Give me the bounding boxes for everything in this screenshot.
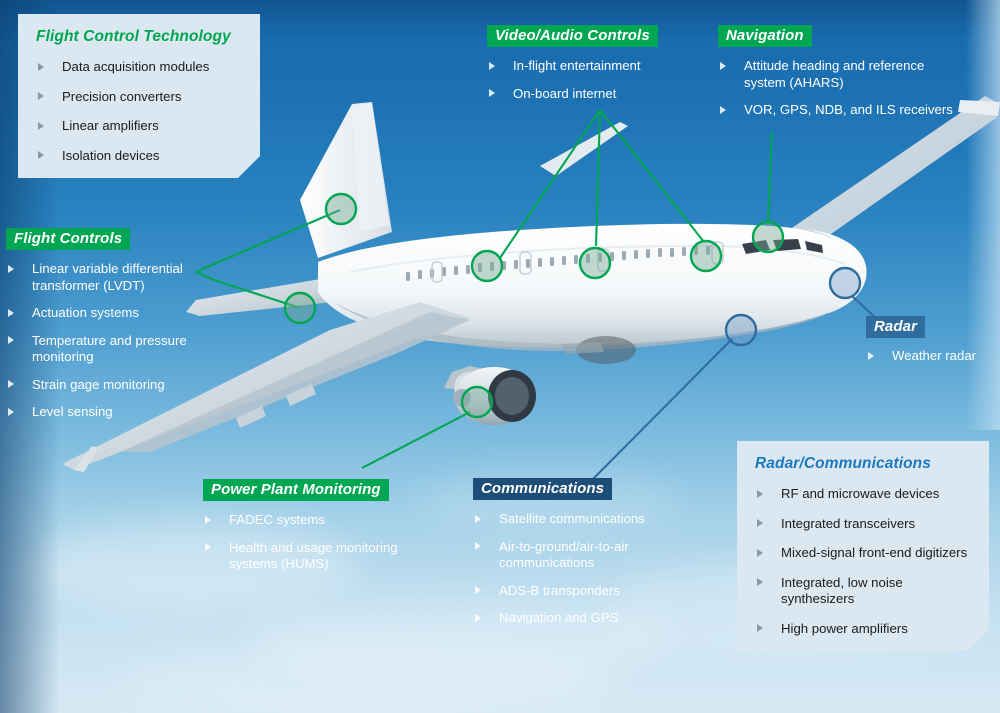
triangle-bullet-icon bbox=[868, 352, 874, 360]
triangle-bullet-icon bbox=[757, 490, 763, 498]
section-flight-controls: Flight Controls Linear variable differen… bbox=[6, 228, 216, 421]
triangle-bullet-icon bbox=[757, 578, 763, 586]
list-radar-communications: RF and microwave devices Integrated tran… bbox=[755, 486, 973, 637]
triangle-bullet-icon bbox=[8, 265, 14, 273]
list-radar: Weather radar bbox=[866, 348, 996, 365]
list-item-label: Actuation systems bbox=[32, 305, 139, 320]
triangle-bullet-icon bbox=[475, 586, 481, 594]
list-item-label: RF and microwave devices bbox=[781, 486, 939, 501]
list-item-label: FADEC systems bbox=[229, 512, 325, 527]
list-item: Actuation systems bbox=[6, 305, 216, 322]
triangle-bullet-icon bbox=[475, 614, 481, 622]
panel-flight-control-technology: Flight Control Technology Data acquisiti… bbox=[18, 14, 260, 178]
list-item: Integrated transceivers bbox=[755, 516, 973, 533]
list-item-label: Precision converters bbox=[62, 89, 181, 104]
list-item-label: Isolation devices bbox=[62, 148, 160, 163]
triangle-bullet-icon bbox=[8, 309, 14, 317]
list-item: Linear amplifiers bbox=[36, 118, 244, 135]
list-item-label: Strain gage monitoring bbox=[32, 377, 165, 392]
list-flight-control-technology: Data acquisition modules Precision conve… bbox=[36, 59, 244, 164]
list-item: Mixed-signal front-end digitizers bbox=[755, 545, 973, 562]
list-navigation: Attitude heading and reference system (A… bbox=[718, 58, 953, 119]
triangle-bullet-icon bbox=[757, 519, 763, 527]
triangle-bullet-icon bbox=[38, 151, 44, 159]
list-item: Strain gage monitoring bbox=[6, 377, 216, 394]
list-item: Satellite communications bbox=[473, 511, 678, 528]
list-item: RF and microwave devices bbox=[755, 486, 973, 503]
triangle-bullet-icon bbox=[720, 106, 726, 114]
section-communications: Communications Satellite communications … bbox=[473, 478, 678, 627]
triangle-bullet-icon bbox=[757, 549, 763, 557]
list-power-plant-monitoring: FADEC systems Health and usage monitorin… bbox=[203, 512, 418, 573]
list-item-label: Temperature and pressure monitoring bbox=[32, 333, 187, 365]
section-title-navigation: Navigation bbox=[718, 25, 812, 47]
section-title-flight-controls: Flight Controls bbox=[6, 228, 130, 250]
list-item: Precision converters bbox=[36, 89, 244, 106]
list-item: Linear variable differential transformer… bbox=[6, 261, 216, 294]
list-item: On-board internet bbox=[487, 86, 687, 103]
list-item: Air-to-ground/air-to-air communications bbox=[473, 539, 678, 572]
section-navigation: Navigation Attitude heading and referenc… bbox=[718, 25, 953, 119]
list-item-label: Weather radar bbox=[892, 348, 976, 363]
list-item-label: High power amplifiers bbox=[781, 621, 908, 636]
list-item-label: Mixed-signal front-end digitizers bbox=[781, 545, 967, 560]
triangle-bullet-icon bbox=[489, 62, 495, 70]
list-item-label: Health and usage monitoring systems (HUM… bbox=[229, 540, 398, 572]
list-item: In-flight entertainment bbox=[487, 58, 687, 75]
list-item-label: ADS-B transponders bbox=[499, 583, 620, 598]
triangle-bullet-icon bbox=[205, 516, 211, 524]
list-item: High power amplifiers bbox=[755, 621, 973, 638]
list-item: Isolation devices bbox=[36, 148, 244, 165]
triangle-bullet-icon bbox=[38, 92, 44, 100]
list-item-label: Linear amplifiers bbox=[62, 118, 159, 133]
list-item: Data acquisition modules bbox=[36, 59, 244, 76]
list-item: Weather radar bbox=[866, 348, 996, 365]
triangle-bullet-icon bbox=[38, 122, 44, 130]
list-item: FADEC systems bbox=[203, 512, 418, 529]
list-item-label: Level sensing bbox=[32, 404, 113, 419]
list-item: VOR, GPS, NDB, and ILS receivers bbox=[718, 102, 953, 119]
section-title-power-plant-monitoring: Power Plant Monitoring bbox=[203, 479, 389, 501]
section-title-flight-control-technology: Flight Control Technology bbox=[36, 28, 231, 46]
section-video-audio-controls: Video/Audio Controls In-flight entertain… bbox=[487, 25, 687, 102]
panel-radar-communications: Radar/Communications RF and microwave de… bbox=[737, 441, 989, 651]
triangle-bullet-icon bbox=[8, 380, 14, 388]
section-radar: Radar Weather radar bbox=[866, 316, 996, 365]
triangle-bullet-icon bbox=[757, 624, 763, 632]
list-video-audio-controls: In-flight entertainment On-board interne… bbox=[487, 58, 687, 102]
list-item-label: Navigation and GPS bbox=[499, 610, 619, 625]
list-item-label: Air-to-ground/air-to-air communications bbox=[499, 539, 629, 571]
infographic-canvas: Flight Control Technology Data acquisiti… bbox=[0, 0, 1000, 713]
section-title-radar-communications: Radar/Communications bbox=[755, 455, 931, 473]
list-item-label: Linear variable differential transformer… bbox=[32, 261, 183, 293]
list-item: Temperature and pressure monitoring bbox=[6, 333, 216, 366]
triangle-bullet-icon bbox=[38, 63, 44, 71]
list-item-label: Integrated transceivers bbox=[781, 516, 915, 531]
triangle-bullet-icon bbox=[475, 515, 481, 523]
section-title-communications: Communications bbox=[473, 478, 612, 500]
triangle-bullet-icon bbox=[8, 336, 14, 344]
list-flight-controls: Linear variable differential transformer… bbox=[6, 261, 216, 421]
list-item-label: On-board internet bbox=[513, 86, 616, 101]
triangle-bullet-icon bbox=[205, 543, 211, 551]
list-item: Health and usage monitoring systems (HUM… bbox=[203, 540, 418, 573]
list-item: Integrated, low noise synthesizers bbox=[755, 575, 973, 608]
triangle-bullet-icon bbox=[720, 62, 726, 70]
list-item-label: Integrated, low noise synthesizers bbox=[781, 575, 903, 607]
list-item-label: VOR, GPS, NDB, and ILS receivers bbox=[744, 102, 953, 117]
list-communications: Satellite communications Air-to-ground/a… bbox=[473, 511, 678, 627]
section-power-plant-monitoring: Power Plant Monitoring FADEC systems Hea… bbox=[203, 479, 418, 573]
section-title-radar: Radar bbox=[866, 316, 925, 338]
triangle-bullet-icon bbox=[475, 542, 481, 550]
section-title-video-audio-controls: Video/Audio Controls bbox=[487, 25, 658, 47]
list-item: ADS-B transponders bbox=[473, 583, 678, 600]
list-item: Navigation and GPS bbox=[473, 610, 678, 627]
list-item: Level sensing bbox=[6, 404, 216, 421]
list-item-label: In-flight entertainment bbox=[513, 58, 641, 73]
list-item: Attitude heading and reference system (A… bbox=[718, 58, 953, 91]
list-item-label: Data acquisition modules bbox=[62, 59, 209, 74]
list-item-label: Attitude heading and reference system (A… bbox=[744, 58, 924, 90]
list-item-label: Satellite communications bbox=[499, 511, 645, 526]
triangle-bullet-icon bbox=[8, 408, 14, 416]
triangle-bullet-icon bbox=[489, 89, 495, 97]
